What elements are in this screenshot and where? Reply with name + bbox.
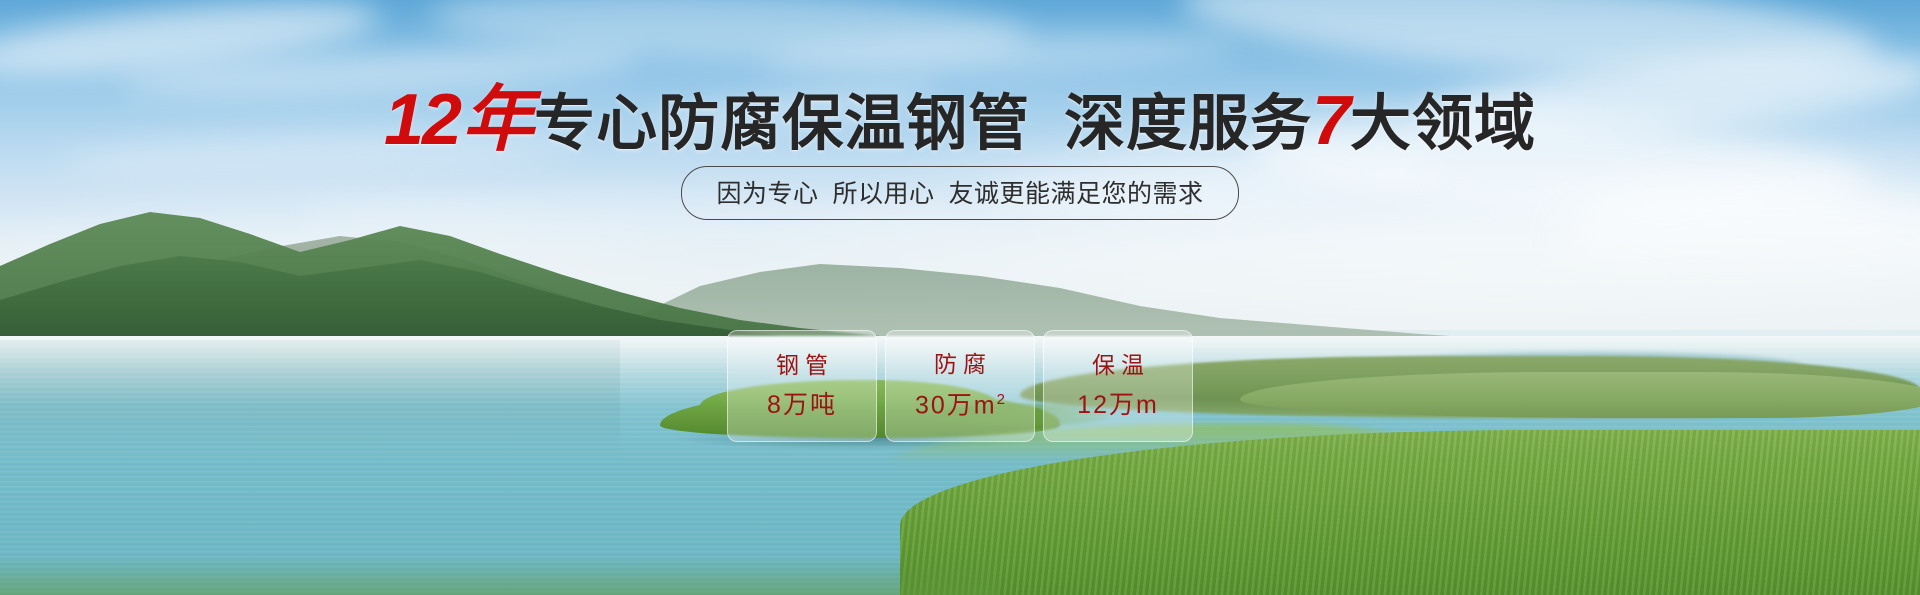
headline-years-unit: 年 (462, 80, 532, 160)
banner-headline: 12年专心防腐保温钢管深度服务7大领域 (0, 84, 1920, 156)
stat-card-value-superscript: 2 (997, 391, 1005, 408)
headline-years-number: 12 (384, 80, 460, 160)
headline-fields-number: 7 (1312, 81, 1350, 159)
subtitle-part-1: 因为专心 (716, 180, 818, 208)
stat-card-value-main: 8万吨 (767, 391, 837, 419)
headline-service-text: 深度服务 (1064, 89, 1312, 157)
stat-card-value: 30万m2 (915, 392, 1005, 418)
stat-card-value-main: 30万m (915, 392, 997, 420)
banner-subtitle-wrap: 因为专心所以用心友诚更能满足您的需求 (0, 166, 1920, 220)
stat-card-title: 保温 (1086, 354, 1150, 377)
banner-content: 12年专心防腐保温钢管深度服务7大领域 因为专心所以用心友诚更能满足您的需求 钢… (0, 0, 1920, 595)
stat-card-title: 防腐 (928, 353, 992, 376)
stat-card-list: 钢管 8万吨 防腐 30万m2 保温 12万m (0, 330, 1920, 442)
stat-card-anticorrosion: 防腐 30万m2 (885, 330, 1035, 442)
subtitle-part-3: 友诚更能满足您的需求 (949, 180, 1204, 208)
hero-banner: 12年专心防腐保温钢管深度服务7大领域 因为专心所以用心友诚更能满足您的需求 钢… (0, 0, 1920, 595)
banner-subtitle-pill: 因为专心所以用心友诚更能满足您的需求 (681, 166, 1238, 220)
headline-main-text: 专心防腐保温钢管 (534, 89, 1030, 157)
stat-card-value: 8万吨 (767, 393, 837, 418)
stat-card-insulation: 保温 12万m (1043, 330, 1193, 442)
stat-card-value-main: 12万m (1077, 391, 1159, 419)
stat-card-value: 12万m (1077, 393, 1159, 418)
subtitle-part-2: 所以用心 (832, 180, 934, 208)
headline-fields-text: 大领域 (1350, 89, 1536, 157)
stat-card-title: 钢管 (770, 354, 834, 377)
stat-card-steel-pipe: 钢管 8万吨 (727, 330, 877, 442)
